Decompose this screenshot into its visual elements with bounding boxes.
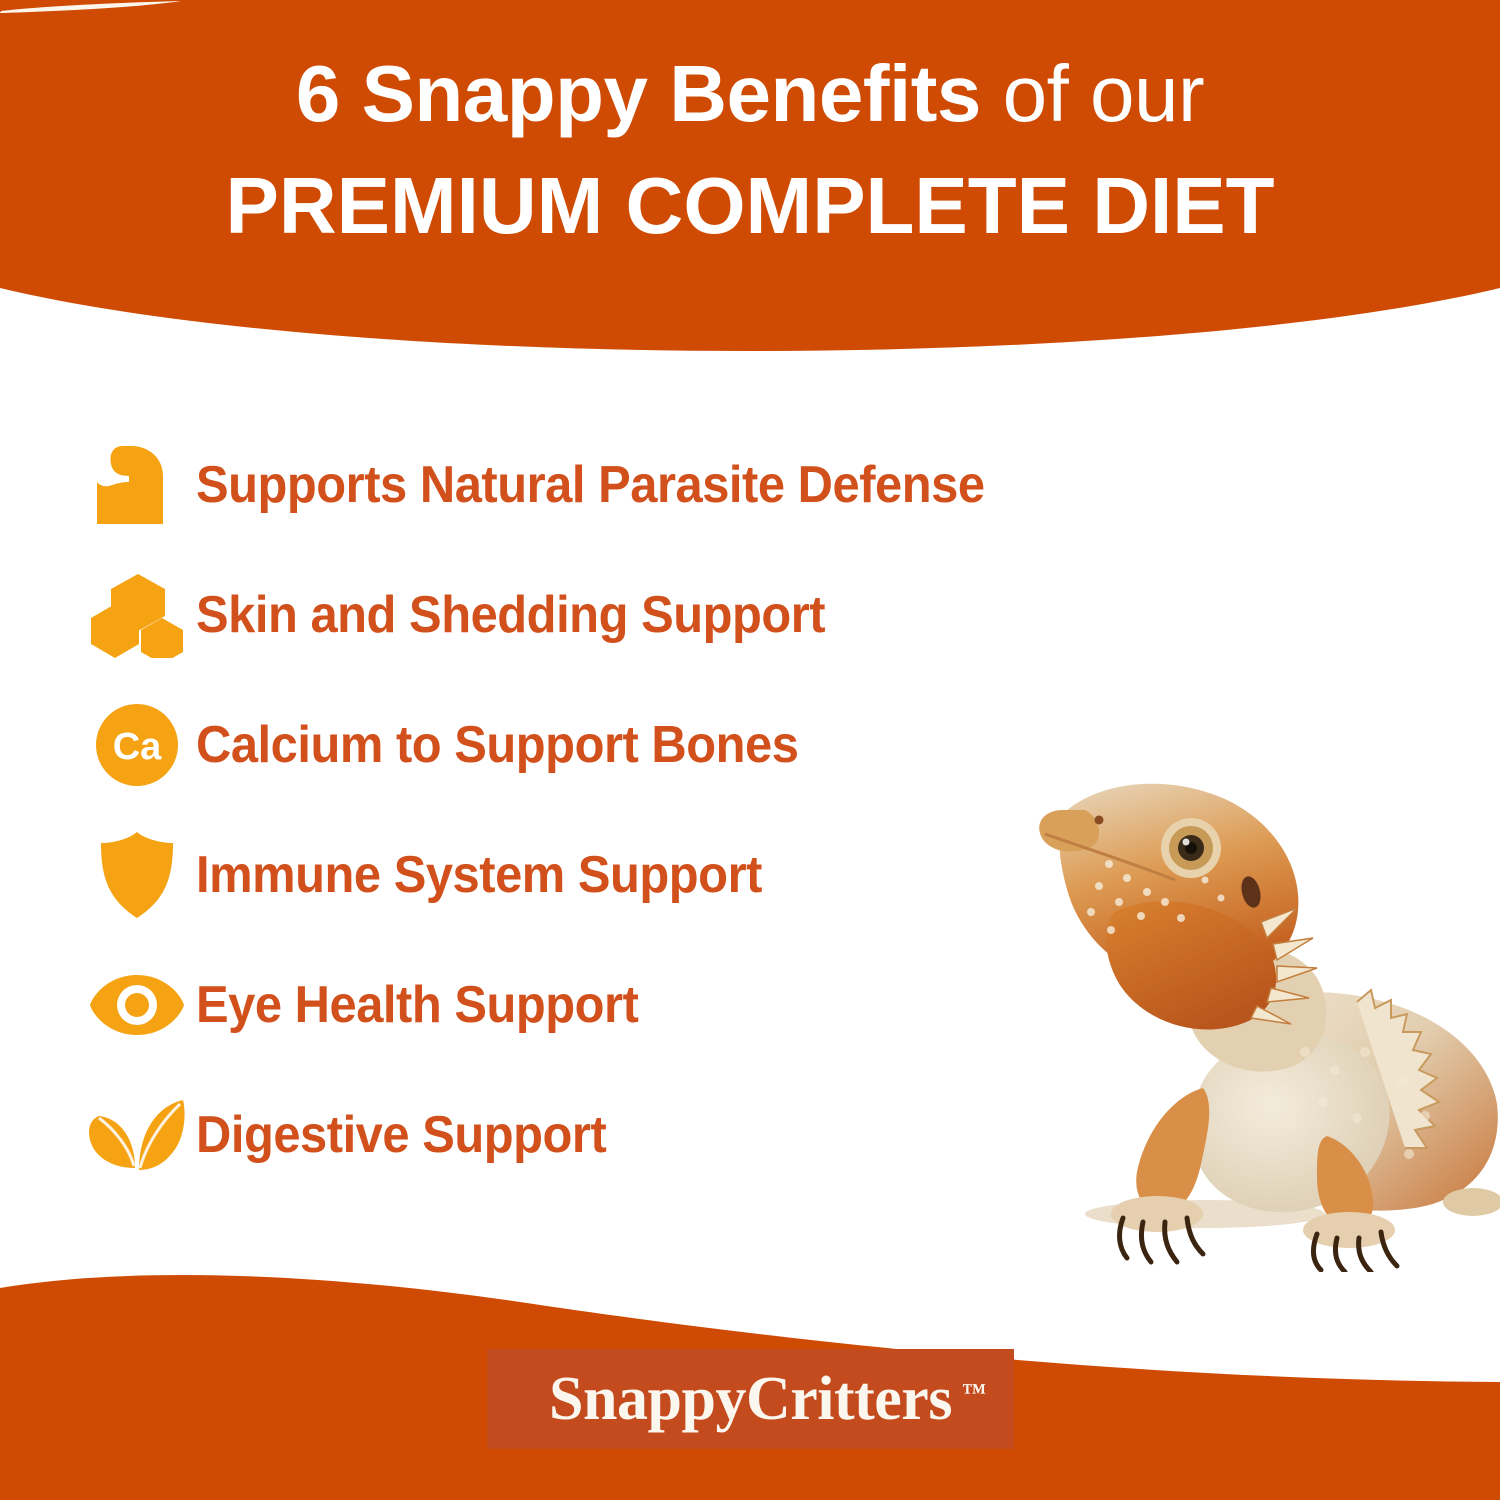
honeycomb-scales-icon — [78, 563, 196, 667]
dash-decoration-left-icon — [0, 0, 172, 14]
benefit-label: Eye Health Support — [196, 976, 638, 1034]
benefit-item-skin-shedding: Skin and Shedding Support — [78, 550, 1258, 680]
bearded-dragon-photo — [1005, 752, 1500, 1272]
shield-icon — [78, 823, 196, 927]
benefit-label: Calcium to Support Bones — [196, 716, 798, 774]
benefit-label: Digestive Support — [196, 1106, 606, 1164]
title-bold-segment: 6 Snappy Benefits — [296, 49, 981, 138]
infographic-page: 6 Snappy Benefits of our PREMIUM COMPLET… — [0, 0, 1500, 1500]
calcium-circle-icon: Ca — [78, 693, 196, 797]
brand-name-label: SnappyCritters — [549, 1365, 952, 1433]
benefit-label: Supports Natural Parasite Defense — [196, 456, 985, 514]
leaves-icon — [78, 1083, 196, 1187]
header-banner: 6 Snappy Benefits of our PREMIUM COMPLET… — [0, 0, 1500, 360]
title-light-segment: of our — [981, 49, 1204, 138]
benefit-label: Immune System Support — [196, 846, 762, 904]
benefit-item-parasite-defense: Supports Natural Parasite Defense — [78, 420, 1258, 550]
brand-logo: SnappyCritters™ — [487, 1349, 1014, 1449]
eye-icon — [78, 953, 196, 1057]
benefit-label: Skin and Shedding Support — [196, 586, 825, 644]
header-title-group: 6 Snappy Benefits of our PREMIUM COMPLET… — [0, 0, 1500, 300]
svg-text:Ca: Ca — [113, 726, 162, 768]
page-title-line-1: 6 Snappy Benefits of our — [0, 48, 1500, 140]
page-title-line-2: PREMIUM COMPLETE DIET — [0, 160, 1500, 252]
brand-name-text: SnappyCritters™ — [549, 1366, 952, 1432]
trademark-symbol: ™ — [962, 1360, 986, 1426]
flexed-bicep-icon — [78, 433, 196, 537]
